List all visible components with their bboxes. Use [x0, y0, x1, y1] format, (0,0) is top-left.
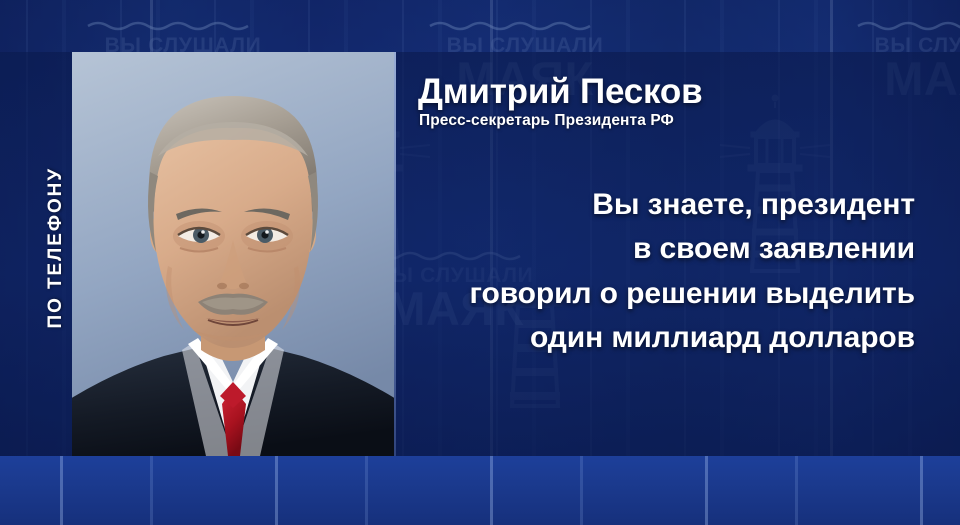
speaker-name: Дмитрий Песков	[418, 72, 918, 112]
bottom-band	[0, 456, 960, 525]
broadcast-lower-third: ВЫ СЛУШАЛИ МАЯК ВЫ СЛУШАЛИ МАЯК ВЫ СЛУША…	[0, 0, 960, 525]
bottom-band-stripes	[0, 456, 960, 525]
speaker-portrait	[72, 52, 394, 456]
source-badge-label: ПО ТЕЛЕФОНУ	[45, 167, 67, 328]
quote-line: один миллиард долларов	[355, 316, 915, 360]
speaker-role: Пресс-секретарь Президента РФ	[419, 112, 919, 130]
quote-line: говорил о решении выделить	[355, 272, 915, 316]
quote-line: Вы знаете, президент	[355, 183, 915, 227]
quote-line: в своем заявлении	[355, 227, 915, 271]
quote-text: Вы знаете, президент в своем заявлении г…	[355, 183, 915, 361]
source-badge: ПО ТЕЛЕФОНУ	[40, 140, 72, 355]
